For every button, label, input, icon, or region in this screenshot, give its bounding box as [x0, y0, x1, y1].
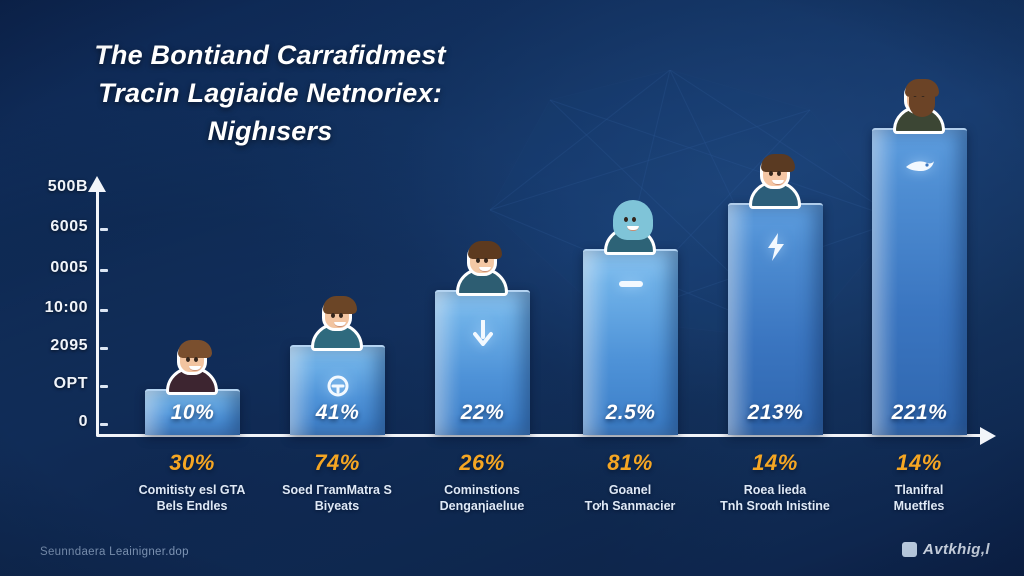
logo-mark-icon: [902, 542, 917, 557]
y-axis-line: [96, 188, 99, 436]
avatar-hair: [761, 154, 795, 172]
avatar-face: [763, 158, 787, 186]
y-axis-tick-label: 0: [14, 413, 88, 431]
category-name-line-2: Bels Endles: [117, 498, 267, 514]
category-name-line-2: Biyeats: [262, 498, 412, 514]
bar[interactable]: 41%: [290, 345, 385, 435]
category-name-line-1: Cominstions: [407, 482, 557, 498]
y-axis-tick-mark: [100, 309, 108, 312]
category-name-line-2: Muetfles: [844, 498, 994, 514]
y-axis-arrow-icon: [88, 176, 106, 192]
arrow-down-icon: [435, 320, 530, 346]
shield-circle-icon: [290, 375, 385, 397]
category-percentage: 30%: [117, 450, 267, 476]
avatar-mouth: [772, 180, 784, 185]
avatar-face: [470, 245, 494, 273]
category-name-line-2: Tơh Sanmacier: [555, 498, 705, 514]
category-name-line-1: Soed ΓramMatra S: [262, 482, 412, 498]
avatar-hair: [468, 241, 502, 259]
avatar-head: [177, 341, 207, 375]
y-axis-tick-mark: [100, 269, 108, 272]
category-label-block: 74%Soed ΓramMatra SBiyeats: [262, 450, 412, 514]
avatar-eye: [777, 171, 781, 176]
avatar-face: [325, 300, 349, 328]
avatar: [601, 189, 659, 255]
bar[interactable]: 10%: [145, 389, 240, 435]
avatar-eye: [476, 258, 480, 263]
category-name-line-2: Dengaηiaelıue: [407, 498, 557, 514]
y-axis-tick-label: 10:00: [14, 299, 88, 317]
avatar-eye: [339, 313, 343, 318]
avatar: [453, 230, 511, 296]
category-name: Roea liedaTnh Sroαh Inistine: [700, 482, 850, 514]
category-name: CominstionsDengaηiaelıue: [407, 482, 557, 514]
bar-value-label: 41%: [290, 401, 385, 425]
category-name: GoanelTơh Sanmacier: [555, 482, 705, 514]
y-axis-tick-label: 500B: [14, 178, 88, 196]
category-label-block: 26%CominstionsDengaηiaelıue: [407, 450, 557, 514]
bird-icon: [872, 158, 967, 176]
avatar-hair: [178, 340, 212, 358]
avatar-face: [907, 83, 931, 111]
y-axis-tick-mark: [100, 385, 108, 388]
bar[interactable]: 22%: [435, 290, 530, 435]
category-name: Comitisty esl GTABels Endles: [117, 482, 267, 514]
avatar-head: [760, 155, 790, 189]
avatar-mouth: [479, 267, 491, 272]
y-axis-tick-mark: [100, 423, 108, 426]
category-percentage: 14%: [844, 450, 994, 476]
category-name-line-1: Goanel: [555, 482, 705, 498]
bar-value-label: 213%: [728, 401, 823, 425]
avatar: [308, 285, 366, 351]
avatar-face: [180, 344, 204, 372]
footer-logo: Avtkhig,l: [902, 541, 990, 558]
bar[interactable]: 2.5%: [583, 249, 678, 435]
avatar-face: [618, 204, 642, 232]
avatar-eye: [624, 217, 628, 222]
avatar-mouth: [334, 322, 346, 327]
avatar-eye: [484, 258, 488, 263]
category-percentage: 14%: [700, 450, 850, 476]
bar[interactable]: 213%: [728, 203, 823, 435]
category-name-line-1: Roea lieda: [700, 482, 850, 498]
bar-value-label: 221%: [872, 401, 967, 425]
category-percentage: 26%: [407, 450, 557, 476]
category-label-block: 30%Comitisty esl GTABels Endles: [117, 450, 267, 514]
y-axis-tick-label: 2095: [14, 337, 88, 355]
avatar-head: [615, 201, 645, 235]
avatar-mouth: [189, 366, 201, 371]
bar-value-label: 2.5%: [583, 401, 678, 425]
footer-source-text: Seunndaera Leainigner.dop: [40, 546, 189, 558]
avatar: [746, 143, 804, 209]
category-name: Soed ΓramMatra SBiyeats: [262, 482, 412, 514]
bar[interactable]: 221%: [872, 128, 967, 435]
y-axis-tick-mark: [100, 228, 108, 231]
category-label-block: 14%TlanifralMuetfles: [844, 450, 994, 514]
avatar-head: [467, 242, 497, 276]
y-axis-tick-label: 0005: [14, 259, 88, 277]
x-axis-arrow-icon: [980, 427, 996, 445]
footer-logo-text: Avtkhig,l: [923, 541, 990, 558]
bar-value-label: 10%: [145, 401, 240, 425]
avatar-head: [904, 80, 934, 114]
avatar: [890, 68, 948, 134]
avatar-eye: [194, 357, 198, 362]
y-axis-tick-label: 6005: [14, 218, 88, 236]
category-label-block: 81%GoanelTơh Sanmacier: [555, 450, 705, 514]
category-name-line-2: Tnh Sroαh Inistine: [700, 498, 850, 514]
lightning-icon: [728, 233, 823, 261]
avatar-eye: [769, 171, 773, 176]
minus-icon: [583, 279, 678, 289]
avatar-eye: [632, 217, 636, 222]
avatar-eye: [186, 357, 190, 362]
avatar-head: [322, 297, 352, 331]
bar-value-label: 22%: [435, 401, 530, 425]
avatar: [163, 329, 221, 395]
avatar-eye: [331, 313, 335, 318]
plot-area: 500B6005000510:002095OPT0 10%41%22%2.5%2…: [0, 0, 1024, 576]
avatar-hair: [323, 296, 357, 314]
category-name-line-1: Comitisty esl GTA: [117, 482, 267, 498]
y-axis-tick-mark: [100, 347, 108, 350]
category-percentage: 74%: [262, 450, 412, 476]
y-axis-tick-label: OPT: [14, 375, 88, 393]
chart-canvas: The Bontiand Carrafidmest Tracin Lagiaid…: [0, 0, 1024, 576]
category-name: TlanifralMuetfles: [844, 482, 994, 514]
avatar-hair: [905, 79, 939, 97]
category-percentage: 81%: [555, 450, 705, 476]
category-label-block: 14%Roea liedaTnh Sroαh Inistine: [700, 450, 850, 514]
category-name-line-1: Tlanifral: [844, 482, 994, 498]
